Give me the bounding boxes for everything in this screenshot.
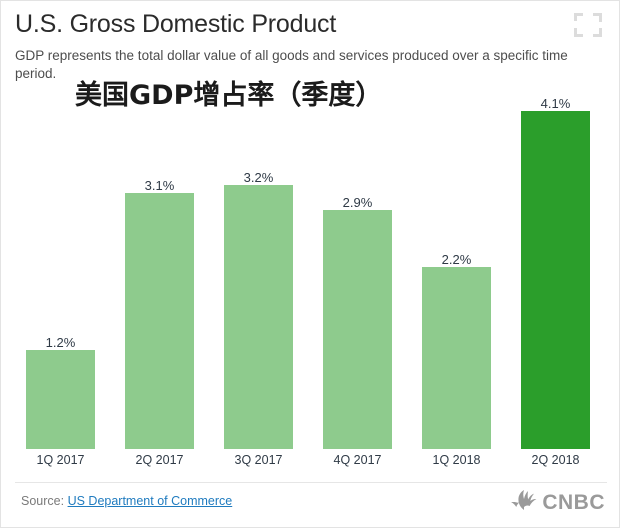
bar-slot: 2.2% <box>411 111 502 449</box>
bar[interactable] <box>323 210 392 449</box>
chinese-title-overlay: 美国GDP增占率（季度） <box>75 79 382 113</box>
x-axis: 1Q 2017 2Q 2017 3Q 2017 4Q 2017 1Q 2018 … <box>1 451 620 473</box>
bar-slot: 3.2% <box>213 111 304 449</box>
bar[interactable] <box>224 185 293 449</box>
source-line: Source: US Department of Commerce <box>21 494 232 508</box>
chart-footer: Source: US Department of Commerce CNBC <box>1 489 620 523</box>
footer-divider <box>15 482 607 483</box>
chart-header: U.S. Gross Domestic Product GDP represen… <box>1 1 620 83</box>
bar-highlight[interactable] <box>521 111 590 449</box>
source-label: Source: <box>21 494 64 508</box>
peacock-icon <box>511 489 537 516</box>
chart-description: GDP represents the total dollar value of… <box>15 47 580 83</box>
bar-value-label: 2.2% <box>411 252 502 267</box>
source-link[interactable]: US Department of Commerce <box>68 494 233 508</box>
bar-slot: 2.9% <box>312 111 403 449</box>
cnbc-wordmark: CNBC <box>542 491 605 515</box>
bar[interactable] <box>422 267 491 449</box>
bar-chart-plot: 1.2% 3.1% 3.2% 2.9% 2.2% 4.1% <box>1 111 620 449</box>
bar-value-label: 2.9% <box>312 195 403 210</box>
bar-slot: 1.2% <box>15 111 106 449</box>
bar-value-label: 3.2% <box>213 170 304 185</box>
bar-value-label: 4.1% <box>510 96 601 111</box>
bar-value-label: 3.1% <box>114 178 205 193</box>
bar-slot: 4.1% <box>510 111 601 449</box>
bar-slot: 3.1% <box>114 111 205 449</box>
page-title: U.S. Gross Domestic Product <box>15 9 607 39</box>
x-tick-label: 2Q 2017 <box>114 453 205 467</box>
x-tick-label: 4Q 2017 <box>312 453 403 467</box>
bar[interactable] <box>125 193 194 449</box>
x-tick-label: 1Q 2017 <box>15 453 106 467</box>
expand-icon[interactable] <box>573 12 603 38</box>
x-tick-label: 3Q 2017 <box>213 453 304 467</box>
x-tick-label: 2Q 2018 <box>510 453 601 467</box>
chart-card: U.S. Gross Domestic Product GDP represen… <box>0 0 620 528</box>
cnbc-logo: CNBC <box>511 489 605 516</box>
x-tick-label: 1Q 2018 <box>411 453 502 467</box>
bar[interactable] <box>26 350 95 449</box>
x-axis-line <box>15 451 607 452</box>
bar-value-label: 1.2% <box>15 335 106 350</box>
